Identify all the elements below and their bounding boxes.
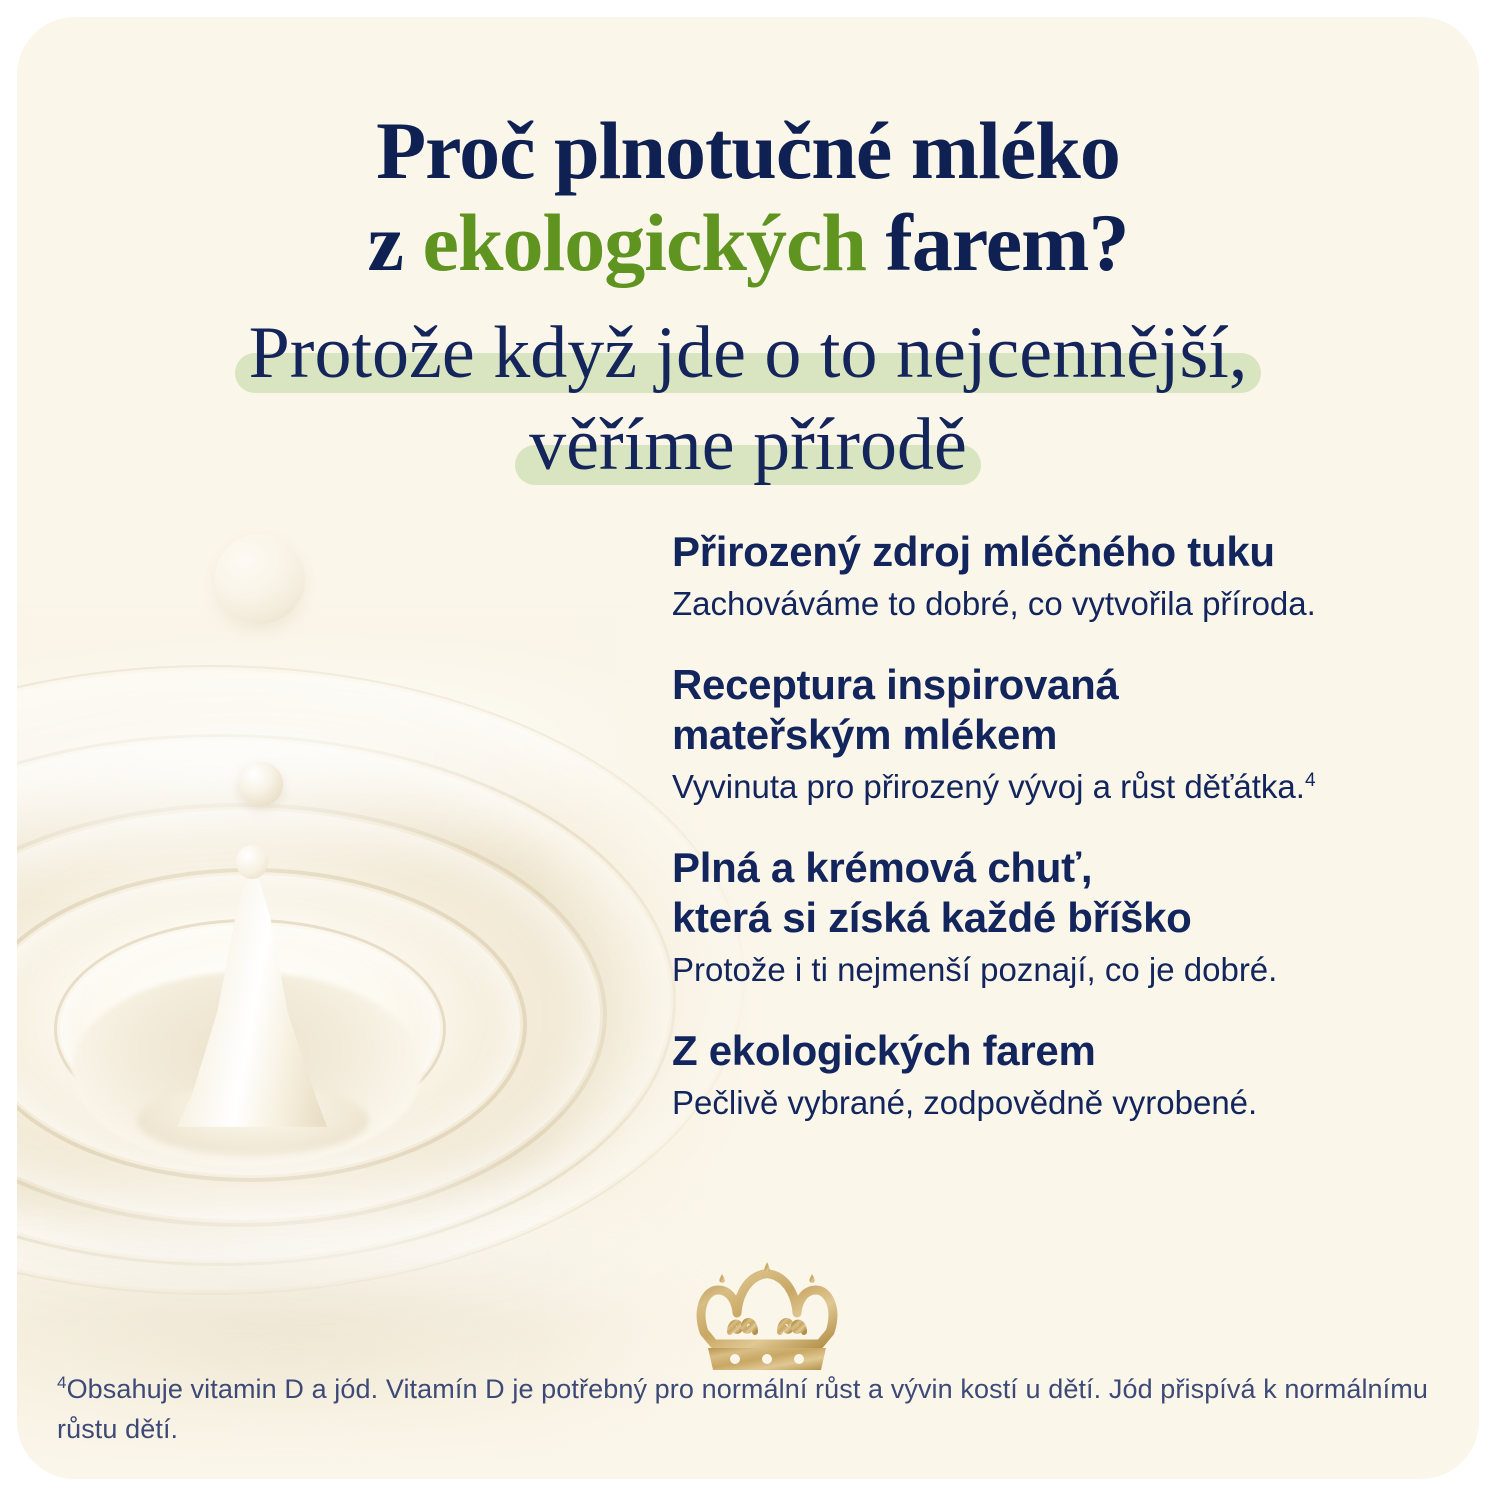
footnote-marker: 4 — [1305, 770, 1316, 791]
milk-ripple-3 — [17, 807, 603, 1223]
milk-sheen-upper — [17, 602, 725, 931]
milk-spike-base — [137, 1085, 369, 1155]
benefit-description-text: Protože i ti nejmenší poznají, co je dob… — [672, 951, 1277, 988]
crown-icon — [692, 1260, 842, 1372]
title-line-2-suffix: farem? — [866, 197, 1128, 288]
benefit-heading: Plná a krémová chuť, která si získá každ… — [672, 843, 1432, 943]
list-item: Z ekologických farem Pečlivě vybrané, zo… — [672, 1026, 1432, 1123]
milk-spike-tip — [236, 845, 268, 879]
title-line-1: Proč plnotučné mléko — [376, 105, 1120, 196]
benefit-description-text: Vyvinuta pro přirozený vývoj a růst děťá… — [672, 768, 1305, 805]
list-item: Přirozený zdroj mléčného tuku Zachovávám… — [672, 527, 1432, 624]
milk-crater — [72, 972, 422, 1167]
benefits-list: Přirozený zdroj mléčného tuku Zachovávám… — [672, 527, 1432, 1123]
footnote-marker: 4 — [57, 1373, 67, 1392]
benefit-description: Pečlivě vybrané, zodpovědně vyrobené. — [672, 1082, 1432, 1123]
subtitle-highlight-1: Protože když jde o to nejcennější, — [235, 307, 1262, 399]
milk-ripple-2 — [17, 737, 673, 1263]
promo-card: Proč plnotučné mléko z ekologických fare… — [17, 17, 1479, 1479]
benefit-heading-line-1: Receptura inspirovaná — [672, 661, 1119, 708]
page-title: Proč plnotučné mléko z ekologických fare… — [17, 105, 1479, 289]
list-item: Plná a krémová chuť, která si získá každ… — [672, 843, 1432, 990]
milk-ripple-4 — [17, 872, 523, 1178]
subtitle-line-2: věříme přírodě — [17, 399, 1479, 491]
title-line-2-prefix: z — [368, 197, 423, 288]
benefit-heading: Z ekologických farem — [672, 1026, 1432, 1076]
benefit-heading-line-1: Plná a krémová chuť, — [672, 844, 1092, 891]
milk-drop-small — [239, 762, 283, 806]
benefit-description-text: Zachováváme to dobré, co vytvořila příro… — [672, 585, 1316, 622]
subtitle-line-1: Protože když jde o to nejcennější, — [17, 307, 1479, 399]
benefit-heading: Přirozený zdroj mléčného tuku — [672, 527, 1432, 577]
benefit-description: Protože i ti nejmenší poznají, co je dob… — [672, 949, 1432, 990]
title-line-2-accent: ekologických — [422, 197, 866, 288]
page-subtitle: Protože když jde o to nejcennější, věřím… — [17, 307, 1479, 491]
footnote-text: Obsahuje vitamin D a jód. Vitamín D je p… — [57, 1374, 1428, 1444]
subtitle-highlight-2: věříme přírodě — [515, 399, 981, 491]
footnote: 4Obsahuje vitamin D a jód. Vitamín D je … — [57, 1369, 1447, 1449]
milk-sheen-lower — [17, 1147, 717, 1357]
benefit-description: Vyvinuta pro přirozený vývoj a růst děťá… — [672, 766, 1432, 807]
list-item: Receptura inspirovaná mateřským mlékem V… — [672, 660, 1432, 807]
benefit-description-text: Pečlivě vybrané, zodpovědně vyrobené. — [672, 1084, 1257, 1121]
milk-ripple-5 — [57, 922, 443, 1136]
milk-ripple-1 — [17, 667, 743, 1293]
subtitle-line-1-text: Protože když jde o to nejcennější, — [249, 312, 1248, 394]
milk-drop-large — [215, 534, 305, 624]
milk-crown-spike — [177, 857, 327, 1127]
benefit-heading-line-2: která si získá každé bříško — [672, 894, 1192, 941]
benefit-heading: Receptura inspirovaná mateřským mlékem — [672, 660, 1432, 760]
benefit-description: Zachováváme to dobré, co vytvořila příro… — [672, 583, 1432, 624]
subtitle-line-2-text: věříme přírodě — [529, 404, 967, 486]
benefit-heading-line-2: mateřským mlékem — [672, 711, 1057, 758]
